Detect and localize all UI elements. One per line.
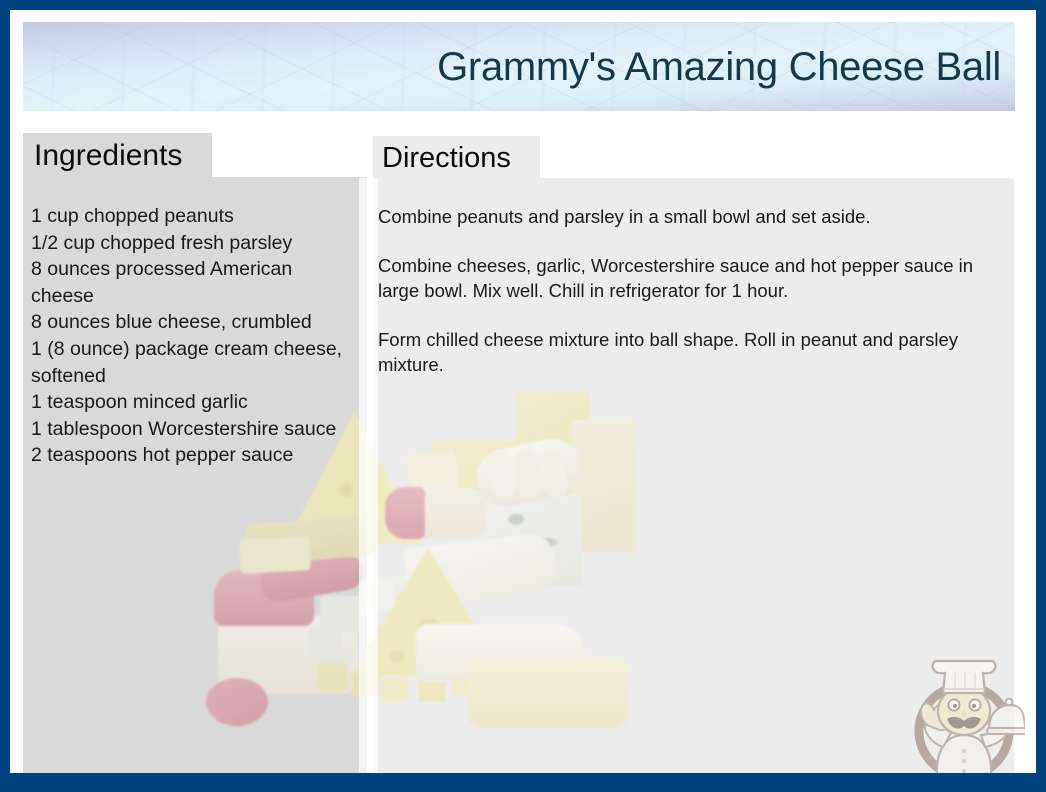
list-item: 1 teaspoon minced garlic bbox=[31, 389, 353, 416]
list-item: 8 ounces blue cheese, crumbled bbox=[31, 309, 353, 336]
slide-content-area: Grammy's Amazing Cheese Ball bbox=[10, 10, 1036, 773]
direction-step: Combine cheeses, garlic, Worcestershire … bbox=[378, 253, 1008, 303]
directions-body: Combine peanuts and parsley in a small b… bbox=[378, 204, 1008, 377]
list-item: 2 teaspoons hot pepper sauce bbox=[31, 442, 353, 469]
direction-step: Combine peanuts and parsley in a small b… bbox=[378, 204, 1008, 229]
tab-ingredients[interactable]: Ingredients bbox=[23, 133, 212, 178]
directions-heading: Directions bbox=[382, 138, 511, 178]
tab-directions[interactable]: Directions bbox=[373, 136, 540, 179]
list-item: 1/2 cup chopped fresh parsley bbox=[31, 230, 353, 257]
recipe-slide: Grammy's Amazing Cheese Ball bbox=[0, 0, 1046, 792]
ingredients-heading: Ingredients bbox=[34, 136, 182, 176]
ingredients-list: 1 cup chopped peanuts 1/2 cup chopped fr… bbox=[31, 203, 353, 469]
list-item: 1 cup chopped peanuts bbox=[31, 203, 353, 230]
list-item: 8 ounces processed American cheese bbox=[31, 256, 353, 309]
list-item: 1 tablespoon Worcestershire sauce bbox=[31, 416, 353, 443]
list-item: 1 (8 ounce) package cream cheese, soften… bbox=[31, 336, 353, 389]
page-title: Grammy's Amazing Cheese Ball bbox=[437, 47, 1001, 87]
chef-with-cloche-logo bbox=[903, 655, 1025, 773]
title-banner: Grammy's Amazing Cheese Ball bbox=[23, 22, 1015, 111]
direction-step: Form chilled cheese mixture into ball sh… bbox=[378, 327, 1008, 377]
